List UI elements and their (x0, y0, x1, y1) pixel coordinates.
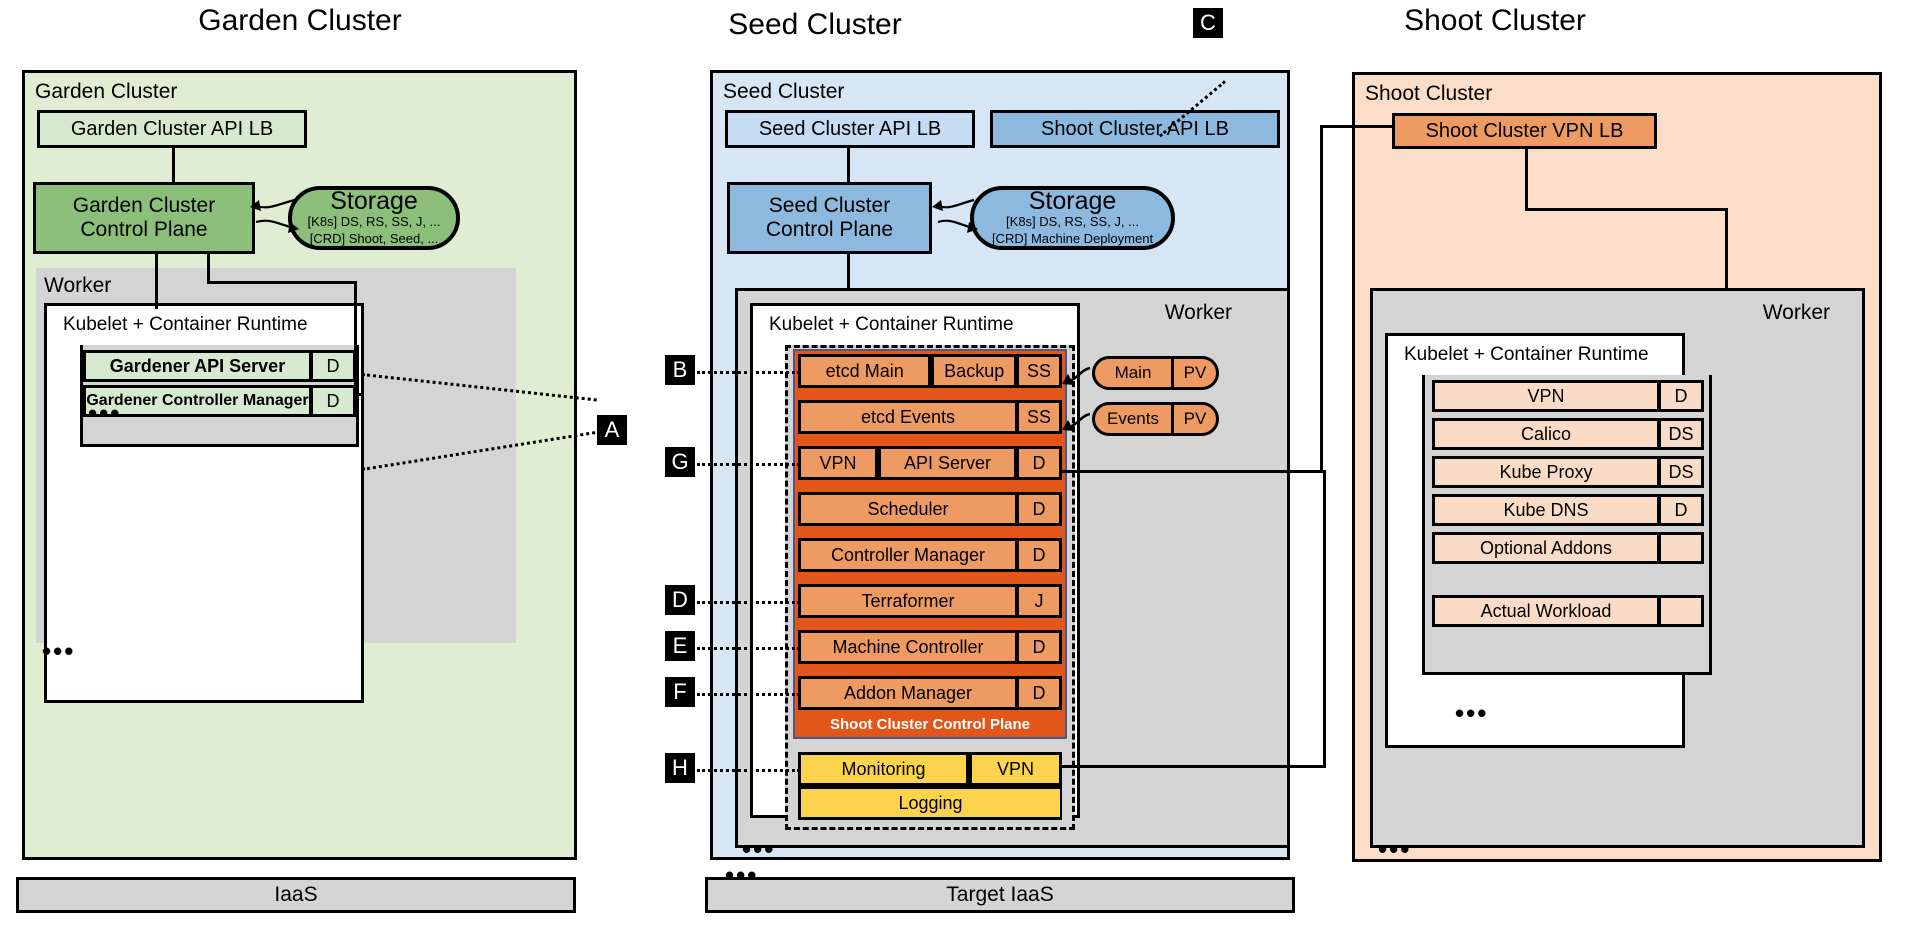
seed-column-title: Seed Cluster (700, 8, 930, 42)
callout-d-leader (697, 601, 800, 604)
seed-cp-row-1[interactable]: etcd Events SS (798, 400, 1062, 434)
seed-cluster-label: Seed Cluster (723, 81, 844, 102)
shoot-vpn-lb-label: Shoot Cluster VPN LB (1426, 120, 1624, 142)
actual-workload-badge (1659, 595, 1704, 627)
shoot-vpnlb-down (1525, 149, 1528, 211)
seed-storage-arrows (932, 190, 978, 250)
callout-b: B (665, 355, 695, 385)
garden-control-plane[interactable]: Garden Cluster Control Plane (33, 182, 255, 254)
callout-b-leader (697, 371, 800, 374)
garden-cluster-label: Garden Cluster (35, 81, 177, 102)
shoot-component-row-4[interactable]: Optional Addons (1432, 532, 1704, 564)
kube-proxy-badge: DS (1659, 456, 1704, 488)
garden-worker-ellipsis: ••• (42, 638, 75, 664)
actual-workload: Actual Workload (1432, 595, 1659, 627)
callout-a: A (597, 415, 627, 445)
garden-storage-arrows (250, 190, 300, 250)
seed-monitoring-vpn-v (1323, 470, 1326, 768)
shoot-component-row-2[interactable]: Kube Proxy DS (1432, 456, 1704, 488)
garden-control-plane-line1: Garden Cluster (73, 194, 215, 218)
garden-iaas: IaaS (16, 877, 576, 913)
shoot-api-server-badge: D (1017, 446, 1062, 480)
seed-api-lb[interactable]: Seed Cluster API LB (725, 110, 975, 148)
addon-manager-badge: D (1017, 676, 1062, 710)
pv-events-label: Events (1095, 405, 1174, 433)
garden-storage-line2: [CRD] Shoot, Seed, ... (310, 231, 439, 247)
garden-worker-label: Worker (44, 274, 111, 298)
shoot-vpnlb-right (1525, 208, 1728, 211)
shoot-component-row-1[interactable]: Calico DS (1432, 418, 1704, 450)
seed-cp-row-3[interactable]: Scheduler D (798, 492, 1062, 526)
calico: Calico (1432, 418, 1659, 450)
seed-control-plane-line1: Seed Cluster (769, 194, 890, 218)
seed-cp-row-7[interactable]: Addon Manager D (798, 676, 1062, 710)
seed-worker-label: Worker (1165, 301, 1232, 325)
seed-storage-line1: [K8s] DS, RS, SS, J, ... (1006, 214, 1139, 230)
shoot-workload-row[interactable]: Actual Workload (1432, 595, 1704, 627)
pv-main-badge: PV (1174, 359, 1216, 387)
garden-component-row-0[interactable]: Gardener API Server D (83, 350, 356, 382)
garden-kubelet-label: Kubelet + Container Runtime (63, 314, 308, 336)
seed-monitoring-vpn-h (1062, 765, 1326, 768)
seed-cp-row-6[interactable]: Machine Controller D (798, 630, 1062, 664)
monitoring-vpn: VPN (969, 752, 1062, 786)
garden-cp-pod-connector-v2 (354, 281, 357, 396)
shoot-column-title: Shoot Cluster (1380, 4, 1610, 38)
shoot-worker-ellipsis: ••• (1378, 836, 1411, 862)
machine-controller-badge: D (1017, 630, 1062, 664)
pv-pill-main: Main PV (1092, 356, 1219, 390)
garden-cp-pod-connector-v1 (207, 254, 210, 284)
shoot-controller-manager-badge: D (1017, 538, 1062, 572)
callout-f-leader (697, 693, 800, 696)
logging: Logging (798, 786, 1062, 820)
shoot-vpn: VPN (798, 446, 878, 480)
garden-pod-connector-h2 (354, 393, 364, 396)
garden-pod-ellipsis: ••• (88, 400, 121, 426)
seed-lb-cp-connector (847, 148, 850, 183)
seed-cp-row-2[interactable]: VPN API Server D (798, 446, 1062, 480)
callout-d: D (665, 585, 695, 615)
callout-f: F (665, 677, 695, 707)
shoot-cluster-label: Shoot Cluster (1365, 83, 1492, 104)
terraformer: Terraformer (798, 584, 1017, 618)
garden-storage-title: Storage (330, 189, 418, 214)
callout-h: H (665, 753, 695, 783)
shoot-vpnlb-left-h (1320, 125, 1395, 128)
shoot-api-lb[interactable]: Shoot Cluster API LB (990, 110, 1280, 148)
shoot-scheduler: Scheduler (798, 492, 1017, 526)
seed-worker-ellipsis: ••• (742, 836, 775, 862)
seed-observability-row-0[interactable]: Monitoring VPN (798, 752, 1062, 786)
kube-proxy: Kube Proxy (1432, 456, 1659, 488)
callout-g: G (665, 447, 695, 477)
callout-g-leader (697, 463, 800, 466)
gardener-api-server: Gardener API Server (83, 350, 311, 382)
shoot-component-row-0[interactable]: VPN D (1432, 380, 1704, 412)
seed-kubelet-label: Kubelet + Container Runtime (769, 314, 1014, 336)
garden-storage-line1: [K8s] DS, RS, SS, J, ... (308, 214, 441, 230)
terraformer-badge: J (1017, 584, 1062, 618)
calico-badge: DS (1659, 418, 1704, 450)
shoot-pod-ellipsis: ••• (1455, 700, 1488, 726)
garden-control-plane-line2: Control Plane (80, 218, 207, 242)
etcd-events-badge: SS (1017, 400, 1062, 434)
garden-component-row-1[interactable]: Gardener Controller Manager D (83, 385, 356, 417)
callout-e-leader (697, 647, 800, 650)
gardener-api-server-badge: D (311, 350, 356, 382)
garden-iaas-label: IaaS (274, 883, 317, 907)
etcd-main: etcd Main (798, 354, 931, 388)
etcd-main-badge: SS (1017, 354, 1062, 388)
seed-cp-row-4[interactable]: Controller Manager D (798, 538, 1062, 572)
monitoring: Monitoring (798, 752, 969, 786)
etcd-main-backup: Backup (931, 354, 1017, 388)
etcd-events: etcd Events (798, 400, 1017, 434)
shoot-vpn-lb[interactable]: Shoot Cluster VPN LB (1392, 113, 1657, 149)
gardener-controller-manager-badge: D (311, 385, 356, 417)
shoot-controller-manager: Controller Manager (798, 538, 1017, 572)
garden-lb-cp-connector (172, 148, 175, 183)
kube-dns-badge: D (1659, 494, 1704, 526)
pv-pill-events: Events PV (1092, 402, 1219, 436)
seed-storage-title: Storage (1029, 189, 1117, 214)
garden-column-title: Garden Cluster (20, 4, 580, 38)
seed-storage-line2: [CRD] Machine Deployment (992, 231, 1153, 247)
pv-events-badge: PV (1174, 405, 1216, 433)
machine-controller: Machine Controller (798, 630, 1017, 664)
shoot-api-server: API Server (878, 446, 1017, 480)
seed-apiserver-to-shoot-v (1320, 125, 1323, 473)
seed-iaas: Target IaaS (705, 877, 1295, 913)
seed-control-plane-line2: Control Plane (766, 218, 893, 242)
shoot-scheduler-badge: D (1017, 492, 1062, 526)
shoot-vpn-pod: VPN (1432, 380, 1659, 412)
kube-dns: Kube DNS (1432, 494, 1659, 526)
shoot-api-lb-label: Shoot Cluster API LB (1041, 118, 1229, 140)
callout-h-leader (697, 769, 800, 772)
seed-control-plane[interactable]: Seed Cluster Control Plane (727, 182, 932, 254)
pv-main-arrow (1062, 356, 1094, 390)
garden-api-lb-label: Garden Cluster API LB (71, 118, 273, 140)
addon-manager: Addon Manager (798, 676, 1017, 710)
pv-main-label: Main (1095, 359, 1174, 387)
seed-iaas-label: Target IaaS (946, 883, 1053, 907)
callout-c: C (1193, 8, 1223, 38)
pv-events-arrow (1062, 402, 1094, 436)
seed-cp-row-0[interactable]: etcd Main Backup SS (798, 354, 1062, 388)
seed-apiserver-to-shoot-h (1062, 470, 1322, 473)
seed-cp-row-5[interactable]: Terraformer J (798, 584, 1062, 618)
seed-api-lb-label: Seed Cluster API LB (759, 118, 941, 140)
garden-cp-kubelet-connector (155, 254, 158, 309)
shoot-component-row-3[interactable]: Kube DNS D (1432, 494, 1704, 526)
optional-addons: Optional Addons (1432, 532, 1659, 564)
seed-storage: Storage [K8s] DS, RS, SS, J, ... [CRD] M… (970, 186, 1175, 250)
seed-observability-row-1[interactable]: Logging (798, 786, 1062, 820)
callout-e: E (665, 631, 695, 661)
garden-api-lb[interactable]: Garden Cluster API LB (37, 110, 307, 148)
optional-addons-badge (1659, 532, 1704, 564)
shoot-vpn-badge: D (1659, 380, 1704, 412)
shoot-control-plane-banner: Shoot Cluster Control Plane (795, 716, 1065, 733)
garden-cp-pod-connector-h (207, 281, 357, 284)
garden-storage: Storage [K8s] DS, RS, SS, J, ... [CRD] S… (288, 186, 460, 250)
shoot-kubelet-label: Kubelet + Container Runtime (1404, 344, 1649, 366)
shoot-worker-label: Worker (1763, 301, 1830, 325)
